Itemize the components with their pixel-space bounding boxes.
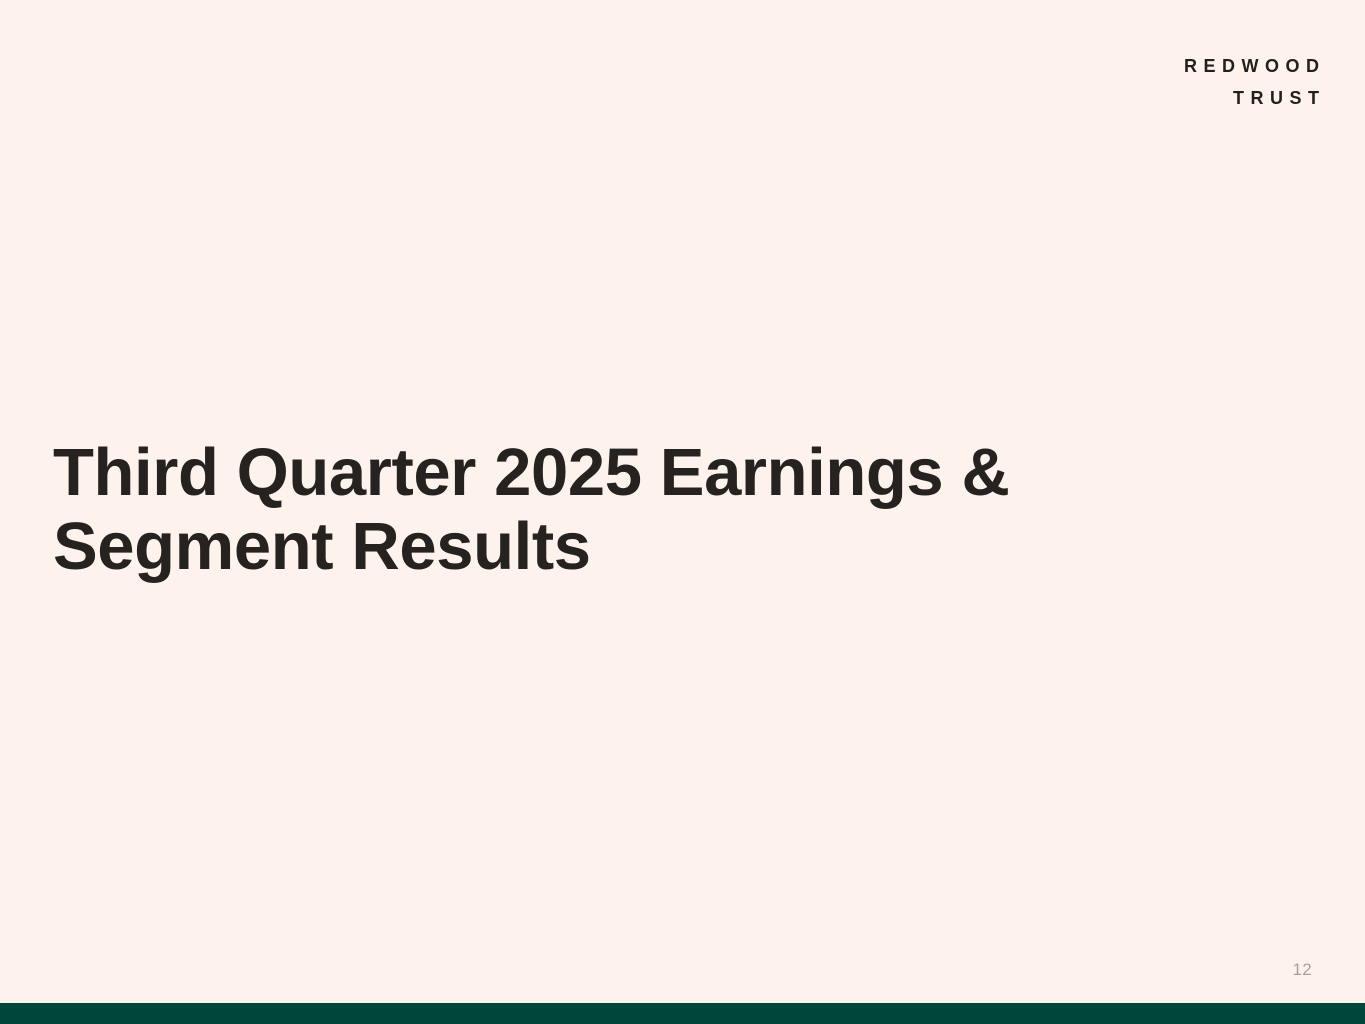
logo-wordmark-line-2: TRUST xyxy=(1184,89,1326,107)
page-title: Third Quarter 2025 Earnings & Segment Re… xyxy=(53,436,1233,584)
footer-accent-bar xyxy=(0,1003,1365,1024)
logo-wordmark-line-1: REDWOOD xyxy=(1184,57,1326,75)
page-number: 12 xyxy=(1292,961,1312,978)
presentation-slide: REDWOOD TRUST Third Quarter 2025 Earning… xyxy=(0,0,1365,1024)
redwood-trust-logo: REDWOOD TRUST xyxy=(1184,57,1319,107)
